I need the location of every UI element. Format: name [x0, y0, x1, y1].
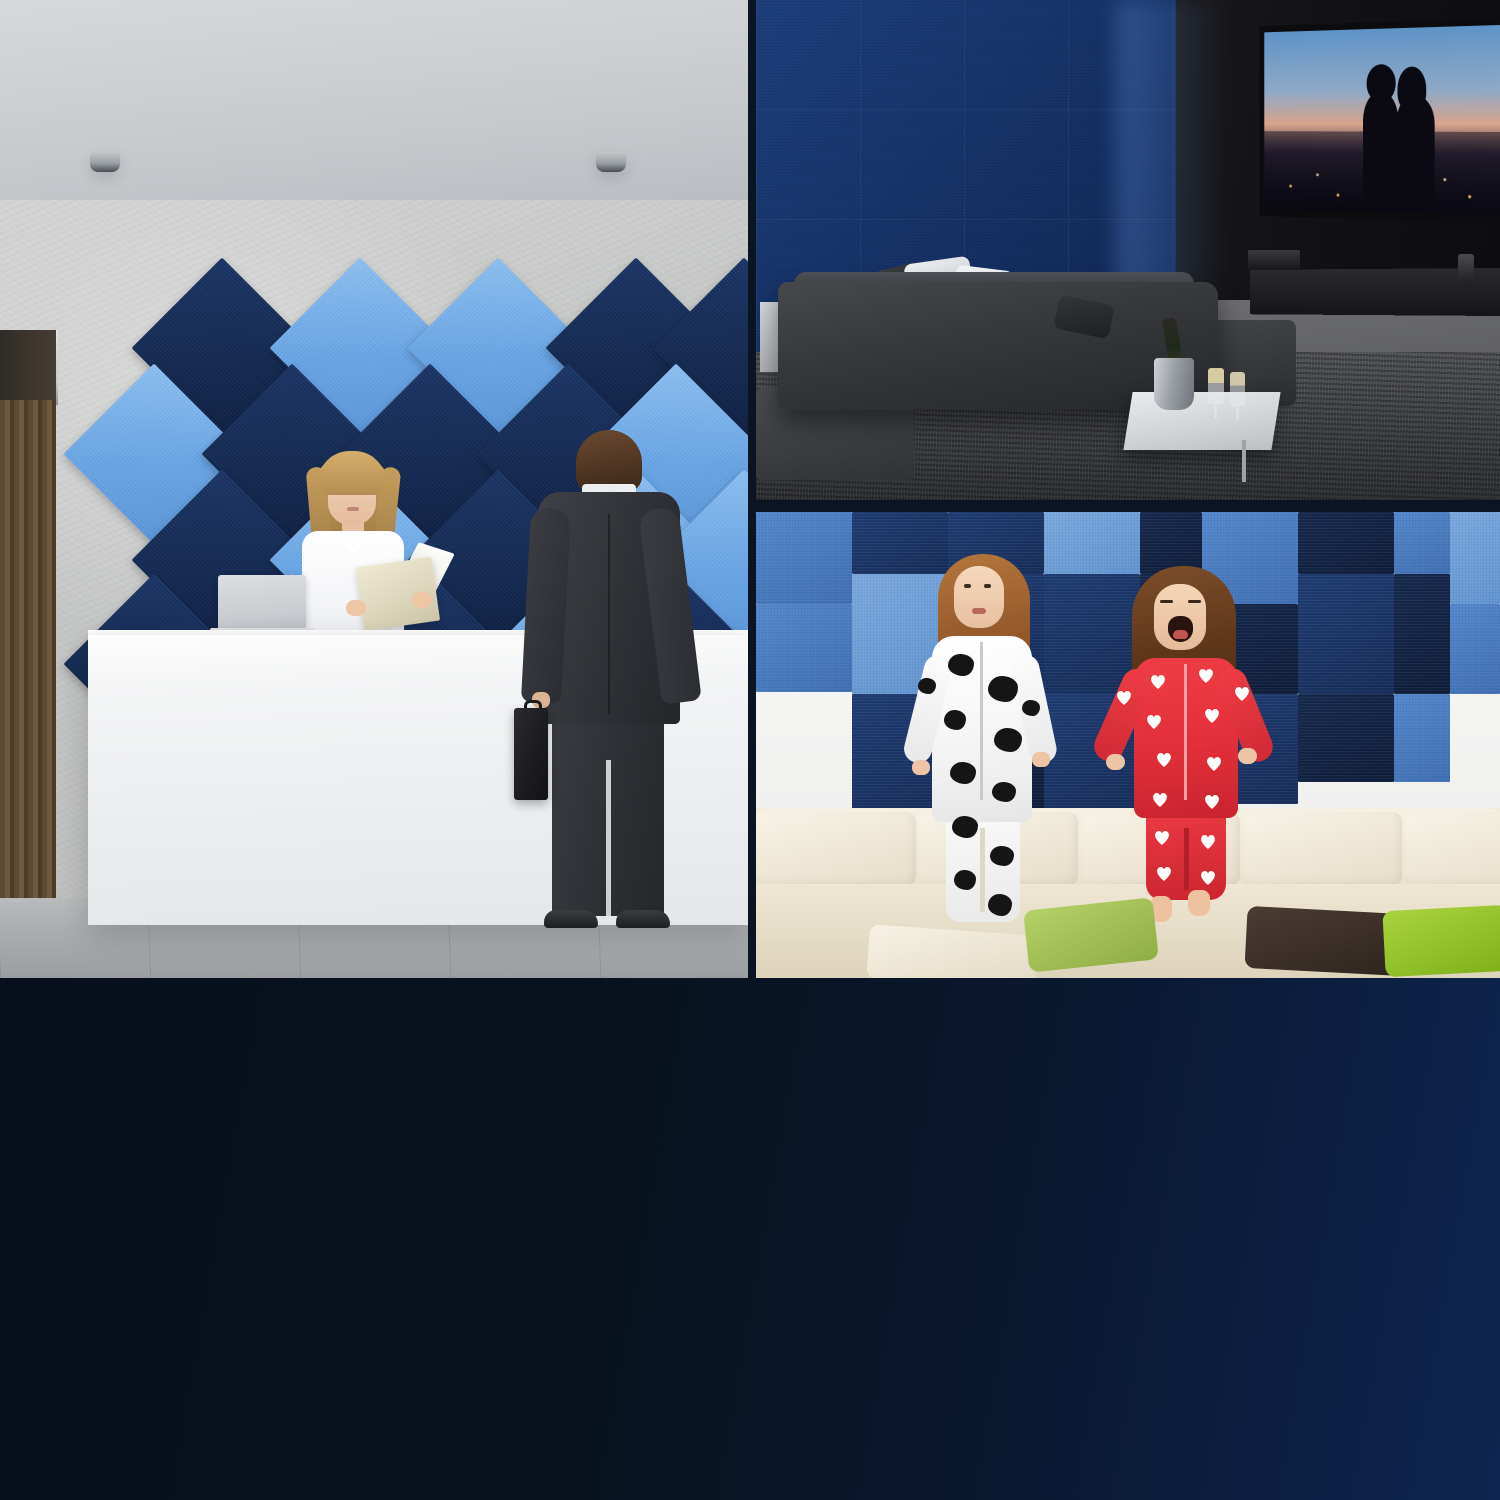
shoe	[616, 910, 670, 928]
shoe	[544, 910, 598, 928]
eye	[984, 584, 991, 588]
projection-screen-frame	[1259, 18, 1500, 224]
businessman-figure	[520, 430, 695, 950]
zipper	[980, 642, 983, 800]
cow-spot	[954, 870, 976, 890]
girl-heart-onesie	[1112, 566, 1260, 896]
horizontal-gutter	[756, 500, 1500, 512]
hair	[576, 430, 642, 492]
acoustic-panel-square	[1450, 604, 1500, 694]
stacked-books	[1248, 250, 1300, 270]
cow-spot	[1022, 700, 1040, 716]
cow-spot	[988, 894, 1012, 916]
cow-spot	[992, 782, 1016, 802]
hair-front	[318, 451, 386, 495]
acoustic-panel-square	[1298, 574, 1394, 694]
cow-spot	[918, 678, 936, 694]
downlight-icon	[90, 152, 120, 172]
ice-bucket	[1154, 358, 1194, 410]
sofa-cushion	[756, 812, 916, 886]
acoustic-panel-square	[1394, 574, 1450, 694]
speaker	[1458, 254, 1474, 284]
briefcase	[514, 708, 548, 800]
mouth	[972, 608, 986, 614]
acoustic-panel-square	[1450, 512, 1500, 604]
face	[954, 566, 1004, 628]
mouth	[347, 507, 359, 511]
acoustic-panel-square	[1394, 512, 1450, 574]
cow-spot	[948, 654, 974, 676]
bare-foot	[1188, 890, 1210, 916]
hand	[1032, 752, 1050, 767]
acoustic-panel-square	[1298, 694, 1394, 782]
acoustic-panel-square	[1394, 694, 1450, 782]
acoustic-panel-square	[1298, 512, 1394, 574]
projection-screen	[1264, 25, 1500, 216]
sofa-cushion	[1404, 812, 1500, 886]
hand	[912, 760, 930, 775]
laptop-screen	[218, 575, 306, 633]
photo-children-room	[756, 512, 1500, 978]
acoustic-panel-square	[1044, 512, 1140, 574]
silhouette-woman	[1396, 94, 1435, 206]
cow-spot	[952, 816, 978, 838]
product-marketing-image: Improve Sound Clarity & Isolate Noisy Ro…	[0, 0, 1500, 1500]
jacket-seam	[608, 514, 610, 714]
brown-pillow	[1244, 906, 1405, 976]
acoustic-panel-square	[756, 512, 852, 604]
eye	[1188, 600, 1201, 603]
ceiling	[0, 0, 748, 205]
sectional-sofa	[778, 282, 1218, 410]
wine-glass	[1230, 372, 1245, 406]
hand	[346, 600, 366, 616]
zipper	[1184, 664, 1187, 800]
leg-gap	[980, 828, 985, 912]
cow-spot	[994, 728, 1022, 752]
acoustic-panel-square	[1140, 512, 1202, 574]
acoustic-panel-square	[756, 604, 852, 692]
cow-spot	[950, 762, 976, 784]
vertical-gutter	[748, 0, 756, 980]
cow-spot	[944, 710, 966, 730]
marble-coffee-table	[1123, 392, 1280, 450]
photo-grid	[0, 0, 1500, 980]
eye	[964, 584, 971, 588]
green-pillow	[1382, 905, 1500, 977]
photo-office-reception	[0, 0, 748, 978]
girl-cow-onesie	[916, 550, 1050, 922]
marketing-banner: Improve Sound Clarity & Isolate Noisy Ro…	[0, 978, 1500, 1500]
cow-spot	[988, 676, 1018, 702]
leg-gap	[1184, 828, 1189, 890]
table-leg	[1242, 440, 1246, 482]
cow-spot	[990, 846, 1014, 866]
sofa-cushion	[1242, 812, 1402, 886]
hand	[1106, 754, 1125, 770]
wine-glass	[1208, 368, 1224, 404]
hand	[412, 592, 432, 608]
hand	[1238, 748, 1257, 764]
eye	[1160, 600, 1173, 603]
silhouette-man	[1363, 91, 1398, 206]
downlight-icon	[596, 152, 626, 172]
tongue	[1173, 630, 1188, 639]
photo-home-theatre	[756, 0, 1500, 500]
leg-gap	[606, 760, 611, 916]
